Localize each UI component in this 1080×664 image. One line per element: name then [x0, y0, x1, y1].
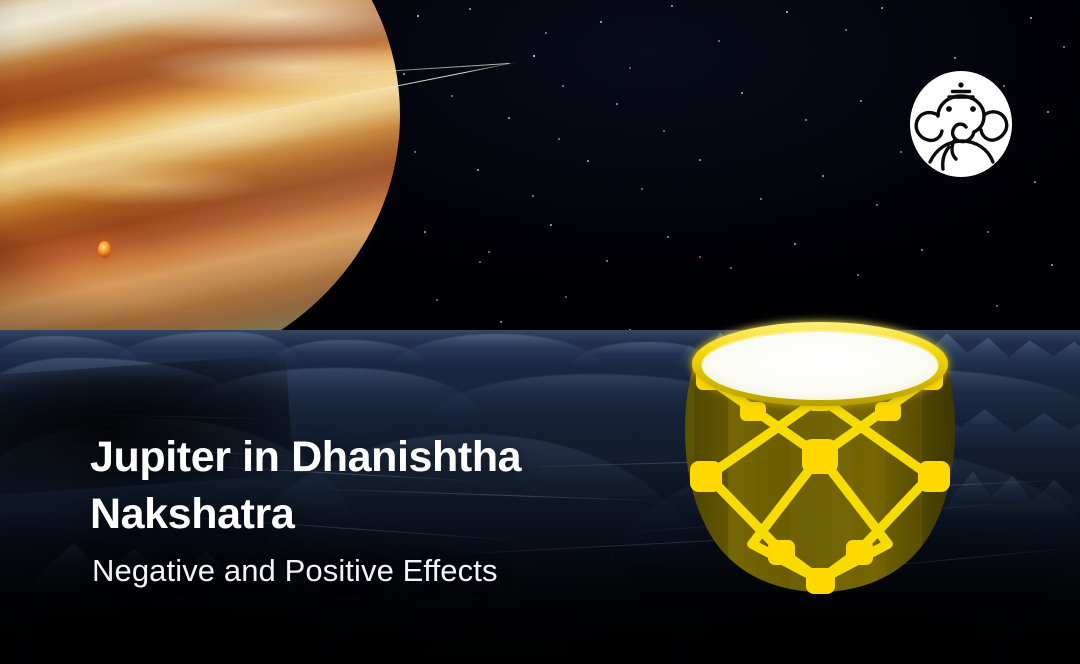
jupiter-planet: [0, 0, 400, 380]
moonlet-icon: [98, 241, 111, 258]
jupiter-terminator-shading: [0, 0, 400, 380]
ganesha-logo[interactable]: [908, 68, 1014, 180]
page-subtitle: Negative and Positive Effects: [92, 553, 692, 589]
banner-image: Jupiter in Dhanishtha Nakshatra Negative…: [0, 0, 1080, 664]
dhanishtha-drum-symbol: [672, 306, 968, 596]
page-title: Jupiter in Dhanishtha Nakshatra: [90, 429, 670, 543]
